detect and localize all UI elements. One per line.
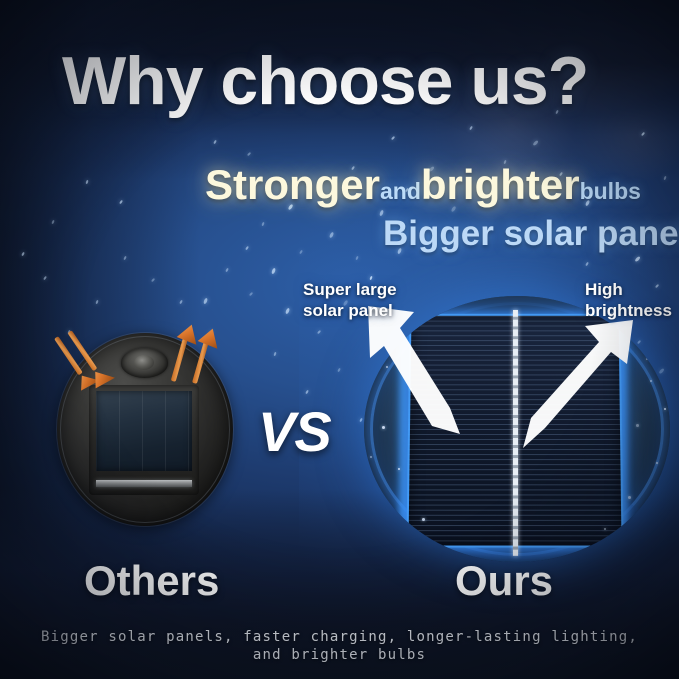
callout-high-brightness: High brightness — [585, 280, 672, 321]
callout-super-large-solar-panel: Super large solar panel — [303, 280, 397, 321]
subheadline-word-stronger: Stronger — [205, 161, 380, 208]
others-sensor-lens — [121, 348, 168, 378]
subheadline-line-2: Bigger solar panels — [383, 216, 679, 251]
footer-caption: Bigger solar panels, faster charging, lo… — [0, 629, 679, 664]
others-product-disc — [57, 333, 233, 526]
callout-left-line-1: Super large — [303, 280, 397, 301]
others-led-strip — [96, 480, 192, 487]
subheadline-word-brighter: brighter — [421, 161, 580, 208]
versus-label: VS — [258, 404, 331, 460]
ours-product-disc — [364, 296, 670, 562]
ours-panel-busbar — [512, 310, 517, 556]
ours-label: Ours — [455, 560, 553, 602]
subheadline-word-and: and — [380, 178, 421, 204]
infographic-canvas: Why choose us? Strongerandbrighterbulbs … — [0, 0, 679, 679]
subheadline-word-bulbs: bulbs — [580, 178, 641, 204]
footer-caption-line-1: Bigger solar panels, faster charging, lo… — [41, 629, 638, 645]
others-solar-panel — [96, 391, 192, 471]
subheadline-line-1: Strongerandbrighterbulbs — [205, 164, 641, 206]
ours-solar-panel — [406, 314, 623, 548]
others-label: Others — [84, 560, 219, 602]
callout-left-line-2: solar panel — [303, 301, 397, 322]
footer-caption-line-2: and brighter bulbs — [0, 647, 679, 665]
callout-right-line-2: brightness — [585, 301, 672, 322]
others-panel-frame — [89, 385, 199, 495]
page-title: Why choose us? — [62, 47, 588, 115]
callout-right-line-1: High — [585, 280, 672, 301]
